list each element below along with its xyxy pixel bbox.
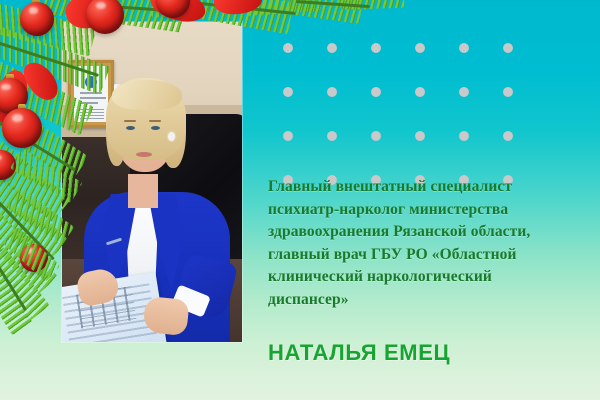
portrait-photo-content <box>62 22 242 342</box>
certificate-line <box>80 97 106 99</box>
person-eyebrow-left <box>124 120 136 122</box>
description-line-3: здравоохранения Рязанской области, <box>268 221 568 244</box>
certificate-line <box>80 92 102 94</box>
description-line-1: Главный внештатный специалист <box>268 176 568 199</box>
person-hair-fringe <box>112 80 182 110</box>
person-mouth <box>136 152 152 157</box>
certificate-text-block <box>80 109 104 121</box>
person-eyebrow-right <box>149 120 161 122</box>
certificate-line <box>80 102 98 104</box>
description-line-2: психиатр-нарколог министерства <box>268 199 568 222</box>
person-eye-left <box>126 126 135 130</box>
description-line-6: диспансер» <box>268 289 568 312</box>
description-line-4: главный врач ГБУ РО «Областной <box>268 244 568 267</box>
description-line-5: клинический наркологический <box>268 266 568 289</box>
slide-canvas: Главный внештатный специалист психиатр-н… <box>0 0 600 400</box>
portrait-photo <box>62 22 242 342</box>
certificate-paper <box>74 66 108 122</box>
person-neck <box>128 174 158 208</box>
person-eye-right <box>151 126 160 130</box>
person-name: НАТАЛЬЯ ЕМЕЦ <box>268 340 450 366</box>
person-earring <box>168 132 175 141</box>
position-description: Главный внештатный специалист психиатр-н… <box>268 176 568 312</box>
certificate-seal-icon <box>85 76 97 88</box>
